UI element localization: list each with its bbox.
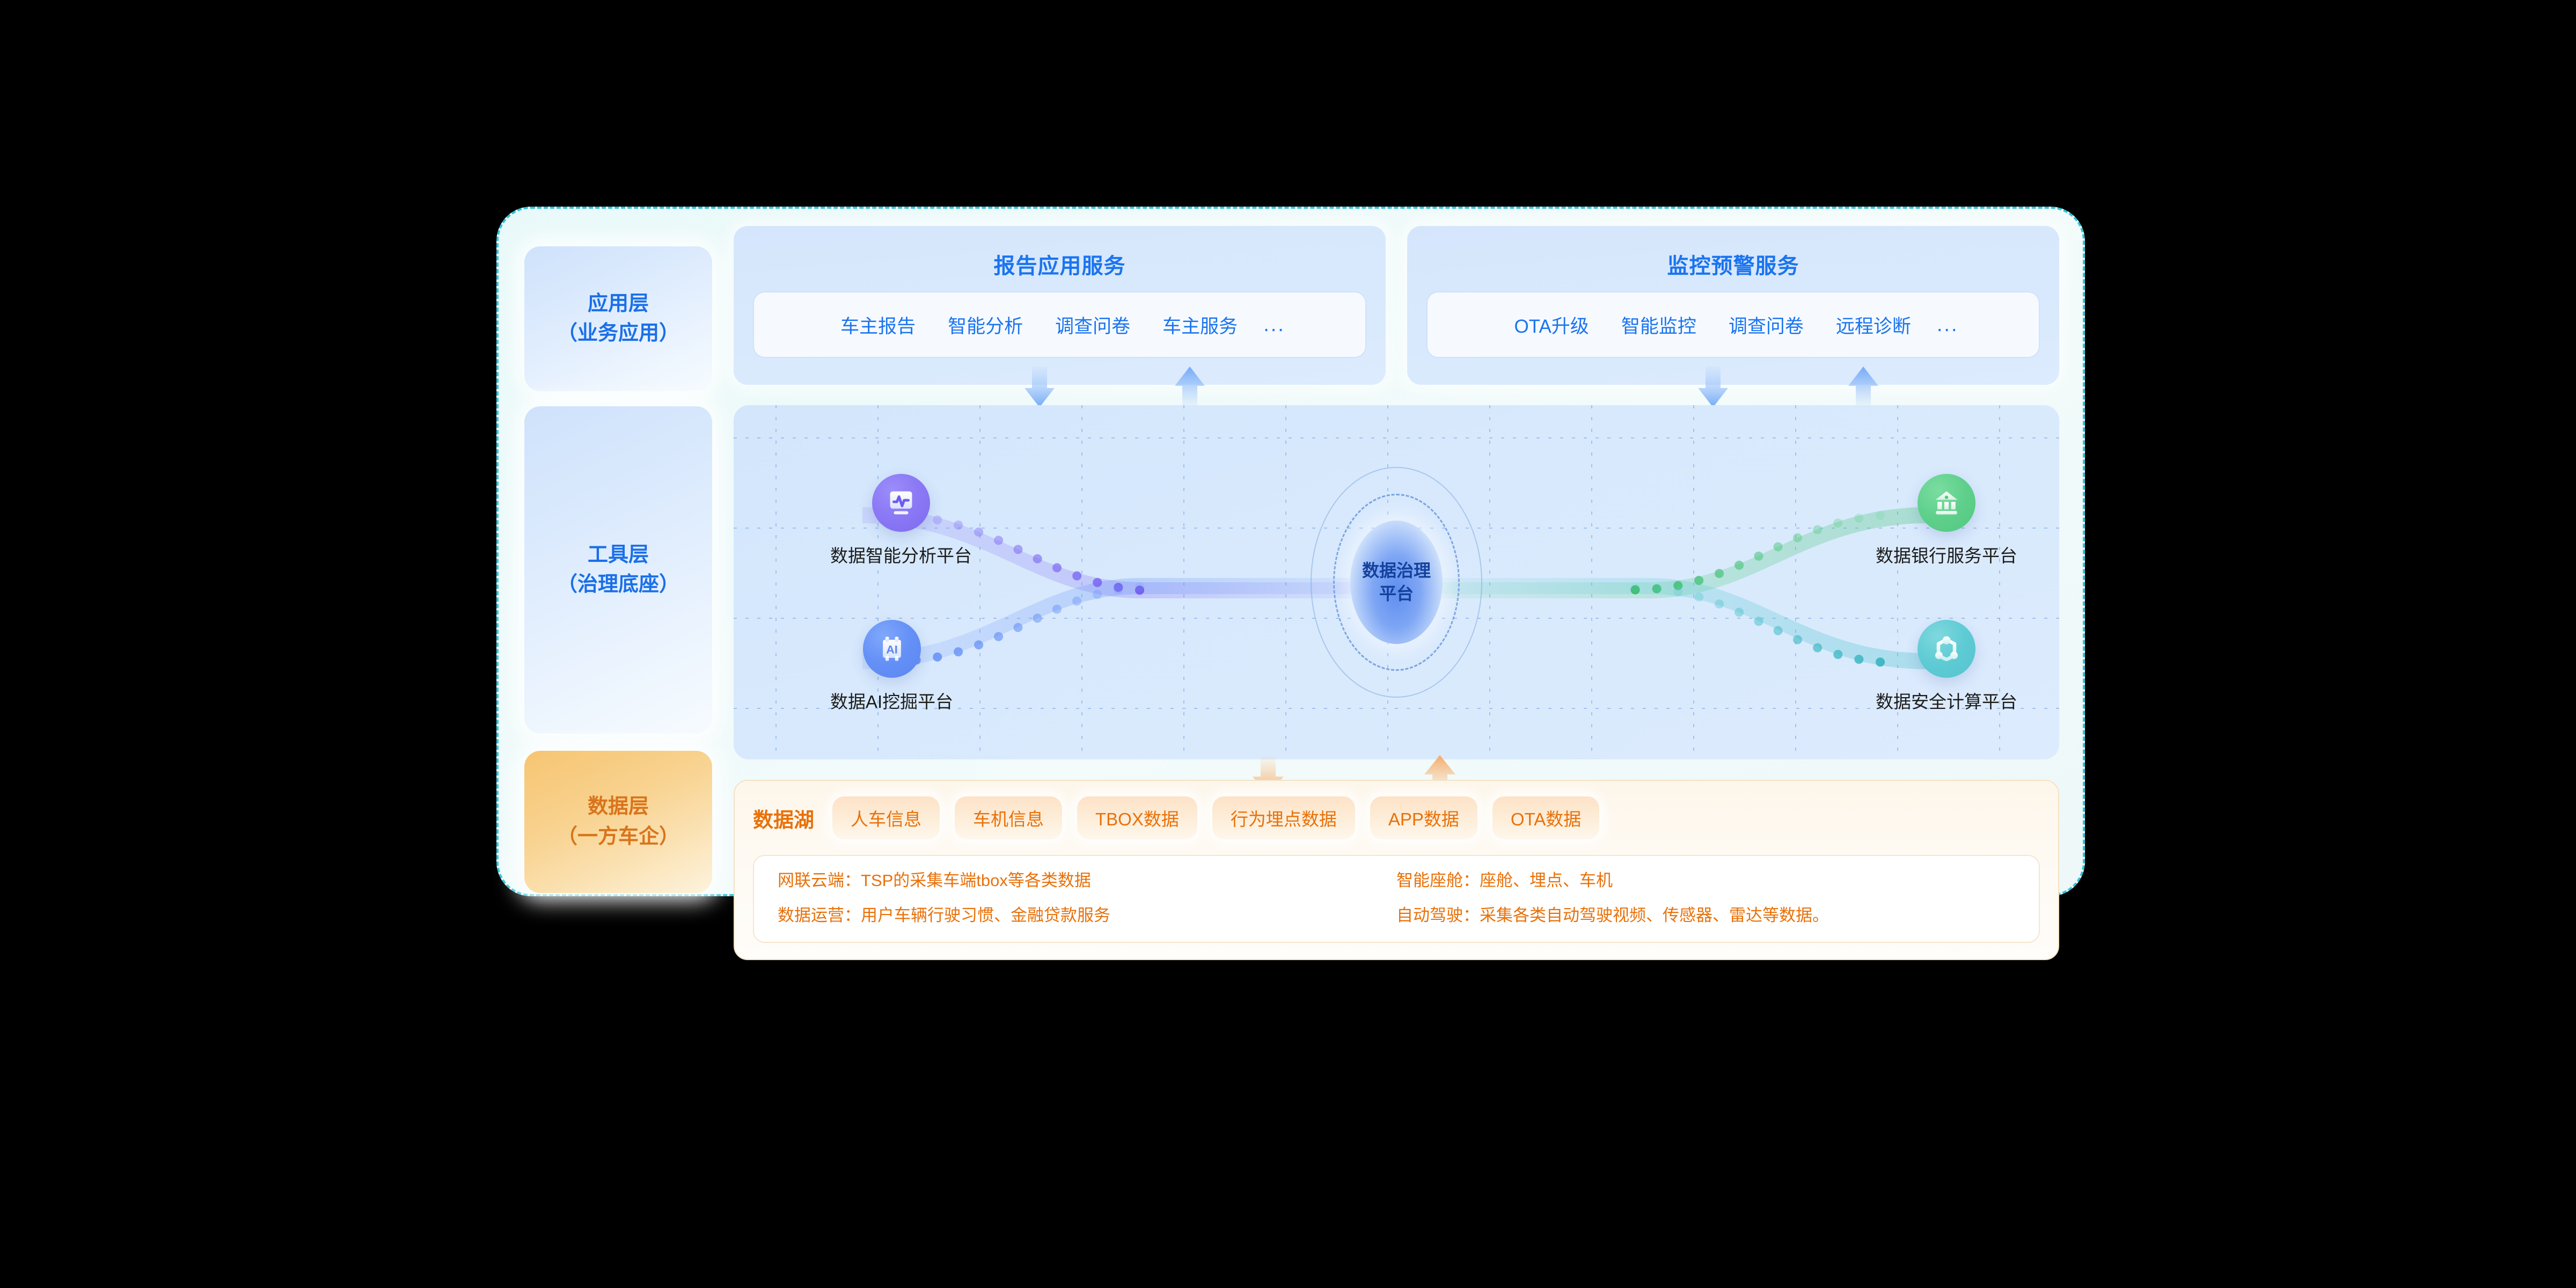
hub-core: 数据治理 平台	[1350, 521, 1443, 644]
hub-label: 数据治理 平台	[1362, 559, 1431, 605]
hub-label-line2: 平台	[1362, 582, 1431, 605]
app-pill-questionnaire-2[interactable]: 调查问卷	[1713, 311, 1820, 339]
layer-tool-line2: （治理底座）	[557, 570, 679, 599]
layer-data-line1: 数据层	[557, 792, 679, 822]
app-pill-more-report[interactable]: ...	[1254, 313, 1295, 336]
sidebar-layer-data[interactable]: 数据层 （一方车企）	[524, 751, 712, 893]
description-line-cloud: 网联云端：TSP的采集车端tbox等各类数据	[778, 872, 1396, 889]
app-card-monitor-service[interactable]: 监控预警服务 OTA升级 智能监控 调查问卷 远程诊断 ...	[1407, 226, 2059, 385]
platform-node-secure-compute-bubble	[1918, 620, 1975, 678]
sidebar-layer-tool[interactable]: 工具层 （治理底座）	[524, 406, 712, 734]
tool-layer-band: 数据智能分析平台	[734, 405, 2059, 759]
architecture-container: 应用层 （业务应用） 工具层 （治理底座） 数据层 （一方车企） 报告应用服务	[496, 207, 2085, 896]
data-lake-tag-vehicle-machine[interactable]: 车机信息	[955, 796, 1062, 839]
data-lake-row: 数据湖 人车信息 车机信息 TBOX数据 行为埋点数据 APP数据 OTA数据	[753, 795, 2040, 841]
layer-application-line1: 应用层	[557, 289, 679, 319]
app-pill-smart-analysis[interactable]: 智能分析	[932, 311, 1039, 339]
data-lake-tag-app[interactable]: APP数据	[1370, 796, 1477, 839]
ai-chip-icon: AI	[876, 633, 908, 665]
arrow-app-report-up	[1174, 367, 1206, 408]
app-pill-more-monitor[interactable]: ...	[1927, 313, 1968, 336]
platform-node-data-bank[interactable]: 数据银行服务平台	[1876, 474, 2017, 567]
app-pill-remote-diagnosis[interactable]: 远程诊断	[1820, 311, 1927, 339]
platform-node-secure-compute-label: 数据安全计算平台	[1876, 687, 2017, 713]
arrow-app-monitor-down	[1697, 367, 1729, 408]
platform-node-ai-mining-label: 数据AI挖掘平台	[830, 687, 953, 713]
app-pill-owner-report[interactable]: 车主报告	[824, 311, 932, 339]
platform-node-analysis-label: 数据智能分析平台	[830, 541, 972, 567]
layer-application-text: 应用层 （业务应用）	[557, 289, 679, 348]
app-card-title-monitor: 监控预警服务	[1667, 248, 1799, 280]
app-pill-row-monitor: OTA升级 智能监控 调查问卷 远程诊断 ...	[1426, 291, 2040, 358]
app-card-report-service[interactable]: 报告应用服务 车主报告 智能分析 调查问卷 车主服务 ...	[734, 226, 1386, 385]
bank-building-icon	[1930, 487, 1963, 519]
monitor-pulse-icon	[884, 486, 918, 519]
app-card-title-report: 报告应用服务	[994, 248, 1126, 280]
platform-node-ai-mining-bubble: AI	[863, 620, 921, 678]
description-column-right: 智能座舱：座舱、埋点、车机 自动驾驶：采集各类自动驾驶视频、传感器、雷达等数据。	[1396, 872, 2015, 924]
data-lake-tag-ota[interactable]: OTA数据	[1492, 796, 1599, 839]
platform-node-analysis-bubble	[872, 474, 930, 532]
layer-application-line2: （业务应用）	[557, 319, 679, 348]
app-pill-row-report: 车主报告 智能分析 调查问卷 车主服务 ...	[753, 291, 1366, 358]
data-lake-tag-behavior-tracking[interactable]: 行为埋点数据	[1212, 796, 1355, 839]
shield-network-icon	[1930, 633, 1963, 665]
layer-tool-line1: 工具层	[557, 540, 679, 570]
data-lake-tag-person-vehicle[interactable]: 人车信息	[832, 796, 940, 839]
layer-tool-text: 工具层 （治理底座）	[557, 540, 679, 599]
data-lake-tag-tbox[interactable]: TBOX数据	[1077, 796, 1197, 839]
svg-text:AI: AI	[886, 642, 898, 656]
arrow-app-monitor-up	[1847, 367, 1879, 408]
arrow-app-report-down	[1023, 367, 1056, 408]
layer-data-line2: （一方车企）	[557, 822, 679, 852]
sidebar-layer-application[interactable]: 应用层 （业务应用）	[524, 246, 712, 391]
description-column-left: 网联云端：TSP的采集车端tbox等各类数据 数据运营：用户车辆行驶习惯、金融贷…	[778, 872, 1396, 924]
data-lake-description-box: 网联云端：TSP的采集车端tbox等各类数据 数据运营：用户车辆行驶习惯、金融贷…	[753, 855, 2040, 943]
app-pill-owner-service[interactable]: 车主服务	[1146, 311, 1254, 339]
platform-node-data-bank-bubble	[1918, 474, 1975, 532]
app-pill-questionnaire[interactable]: 调查问卷	[1039, 311, 1146, 339]
hub-label-line1: 数据治理	[1362, 559, 1431, 582]
diagram-canvas: 应用层 （业务应用） 工具层 （治理底座） 数据层 （一方车企） 报告应用服务	[0, 0, 2576, 1288]
layer-data-text: 数据层 （一方车企）	[557, 792, 679, 851]
platform-node-data-bank-label: 数据银行服务平台	[1876, 541, 2017, 567]
platform-node-analysis[interactable]: 数据智能分析平台	[830, 474, 972, 567]
platform-node-ai-mining[interactable]: AI 数据AI挖掘平台	[830, 620, 953, 713]
description-line-cockpit: 智能座舱：座舱、埋点、车机	[1396, 872, 2015, 889]
central-hub-data-governance[interactable]: 数据治理 平台	[1326, 467, 1467, 698]
data-lake-title: 数据湖	[753, 803, 814, 833]
description-line-autonomous: 自动驾驶：采集各类自动驾驶视频、传感器、雷达等数据。	[1396, 907, 2015, 924]
description-line-operations: 数据运营：用户车辆行驶习惯、金融贷款服务	[778, 907, 1396, 924]
app-pill-smart-monitor[interactable]: 智能监控	[1605, 311, 1713, 339]
data-layer-band: 数据湖 人车信息 车机信息 TBOX数据 行为埋点数据 APP数据 OTA数据 …	[734, 780, 2059, 960]
app-pill-ota-upgrade[interactable]: OTA升级	[1498, 311, 1605, 339]
platform-node-secure-compute[interactable]: 数据安全计算平台	[1876, 620, 2017, 713]
main-column: 报告应用服务 车主报告 智能分析 调查问卷 车主服务 ... 监控预警服务 OT…	[734, 226, 2059, 960]
application-layer-band: 报告应用服务 车主报告 智能分析 调查问卷 车主服务 ... 监控预警服务 OT…	[734, 226, 2059, 385]
